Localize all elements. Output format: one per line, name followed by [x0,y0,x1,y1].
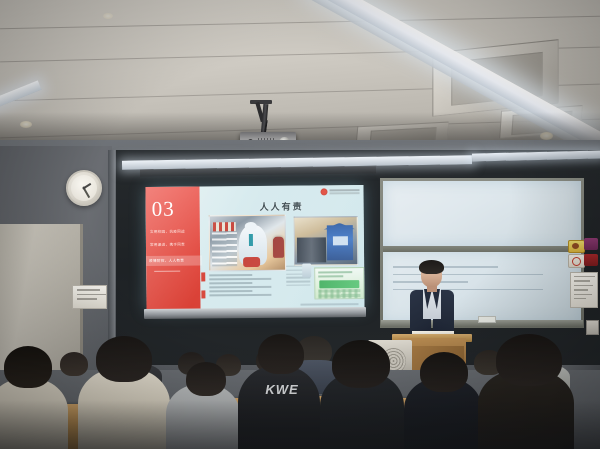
presenter [408,262,456,342]
audience-head [186,362,226,396]
slide-divider [154,271,180,272]
slide-bullet: 文明校园，抗疫同战 [150,230,196,235]
warning-sign [584,254,598,266]
slide-text-block [209,274,279,299]
slide-bullet: 常用渠道，携手同责 [150,243,196,248]
warning-sign [584,238,598,250]
slide-body: 人人有责 [199,185,364,310]
presenter-hair [419,260,444,274]
lecture-hall-photo: 03 文明校园，抗疫同战 常用渠道，携手同责 疫情防控，人人有责 人人有责 [0,0,600,449]
slide-bullet-list: 文明校园，抗疫同战 常用渠道，携手同责 疫情防控，人人有责 [150,230,196,274]
slide-photo-ppe-worker [209,215,286,272]
projection-screen: 03 文明校园，抗疫同战 常用渠道，携手同责 疫情防控，人人有责 人人有责 [145,185,364,311]
no-smoking-icon [568,254,585,268]
audience-person-kwe-jacket [238,366,320,449]
whiteboard-upper-panel [383,181,581,247]
ceiling-downlight [103,13,113,19]
slide-photo-testing-booth [294,216,358,266]
ceiling-seam [0,16,600,30]
screen-bottom-bar [144,307,366,319]
audience-head [420,352,468,392]
audience-head [258,334,304,374]
slide-phone-icon [302,264,311,278]
slide-footnote [300,303,358,306]
jacket-text: KWE [252,382,312,397]
notice-sheet [570,272,598,308]
audience-head [332,340,390,388]
slide-bullet-active: 疫情防控，人人有责 [146,255,202,265]
college-logo-icon [320,188,359,195]
slide-section-number: 03 [152,197,175,222]
presentation-slide: 03 文明校园，抗疫同战 常用渠道，携手同责 疫情防控，人人有责 人人有责 [145,185,364,311]
wall-sign [72,285,107,309]
wall-clock-icon [66,170,102,206]
slide-number-badge [201,272,205,281]
power-outlet[interactable] [586,320,599,335]
slide-health-code-card [314,267,364,299]
audience-person [0,378,68,449]
whiteboard-eraser[interactable] [478,316,496,323]
audience-head [60,352,88,376]
slide-title: 人人有责 [200,199,364,213]
warning-sign [568,240,585,253]
slide-sidebar: 03 文明校园，抗疫同战 常用渠道，携手同责 疫情防控，人人有责 [145,186,200,310]
audience-head [496,334,562,386]
projector-mount-plate [250,100,272,104]
audience-head [96,336,152,382]
slide-number-badge [201,290,205,298]
audience-head [4,346,52,388]
